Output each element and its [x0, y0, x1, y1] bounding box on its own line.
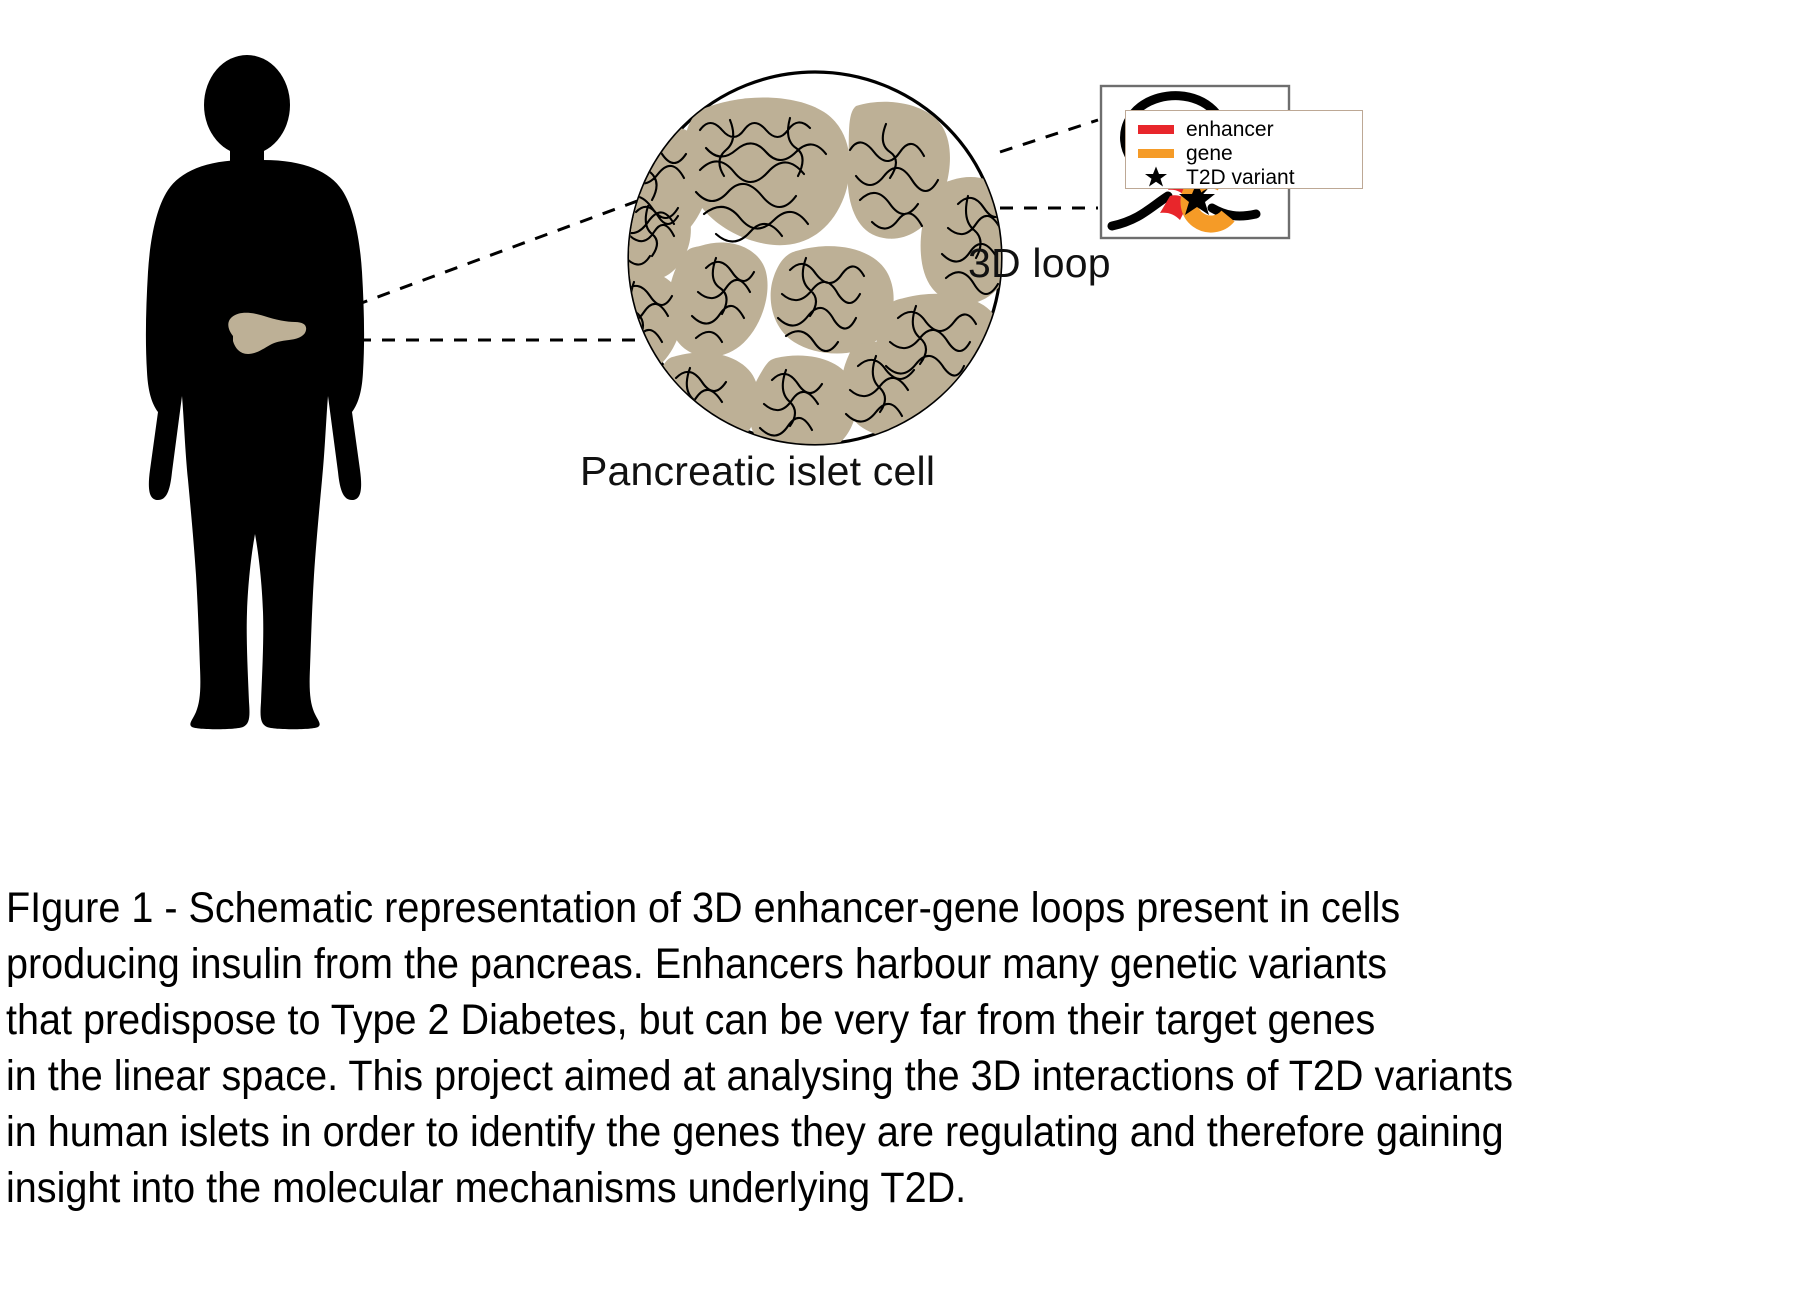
caption-line: FIgure 1 - Schematic representation of 3… [6, 880, 1653, 936]
legend-item-enhancer: enhancer [1134, 117, 1362, 141]
legend-label-enhancer: enhancer [1186, 119, 1274, 140]
caption-line: in the linear space. This project aimed … [6, 1048, 1653, 1104]
figure-caption: FIgure 1 - Schematic representation of 3… [6, 880, 1653, 1216]
caption-line: insight into the molecular mechanisms un… [6, 1160, 1653, 1216]
pancreatic-islet-cell-diagram [586, 72, 1018, 457]
enhancer-swatch-icon [1138, 125, 1174, 134]
star-icon [1138, 165, 1174, 189]
caption-line: that predispose to Type 2 Diabetes, but … [6, 992, 1653, 1048]
legend-label-gene: gene [1186, 143, 1233, 164]
caption-line: in human islets in order to identify the… [6, 1104, 1653, 1160]
figure-canvas: Pancreatic islet cell 3D loop enhancer g… [0, 0, 1798, 1301]
legend-label-t2d-variant: T2D variant [1186, 167, 1295, 188]
islet-cell-label: Pancreatic islet cell [580, 448, 935, 495]
caption-line: producing insulin from the pancreas. Enh… [6, 936, 1653, 992]
human-silhouette [146, 55, 364, 729]
legend: enhancer gene T2D variant [1125, 110, 1363, 189]
gene-swatch-icon [1138, 149, 1174, 158]
legend-item-t2d-variant: T2D variant [1134, 165, 1362, 189]
legend-item-gene: gene [1134, 141, 1362, 165]
three-d-loop-label: 3D loop [968, 240, 1111, 287]
leader-lines-cell-to-loop [1000, 120, 1098, 208]
